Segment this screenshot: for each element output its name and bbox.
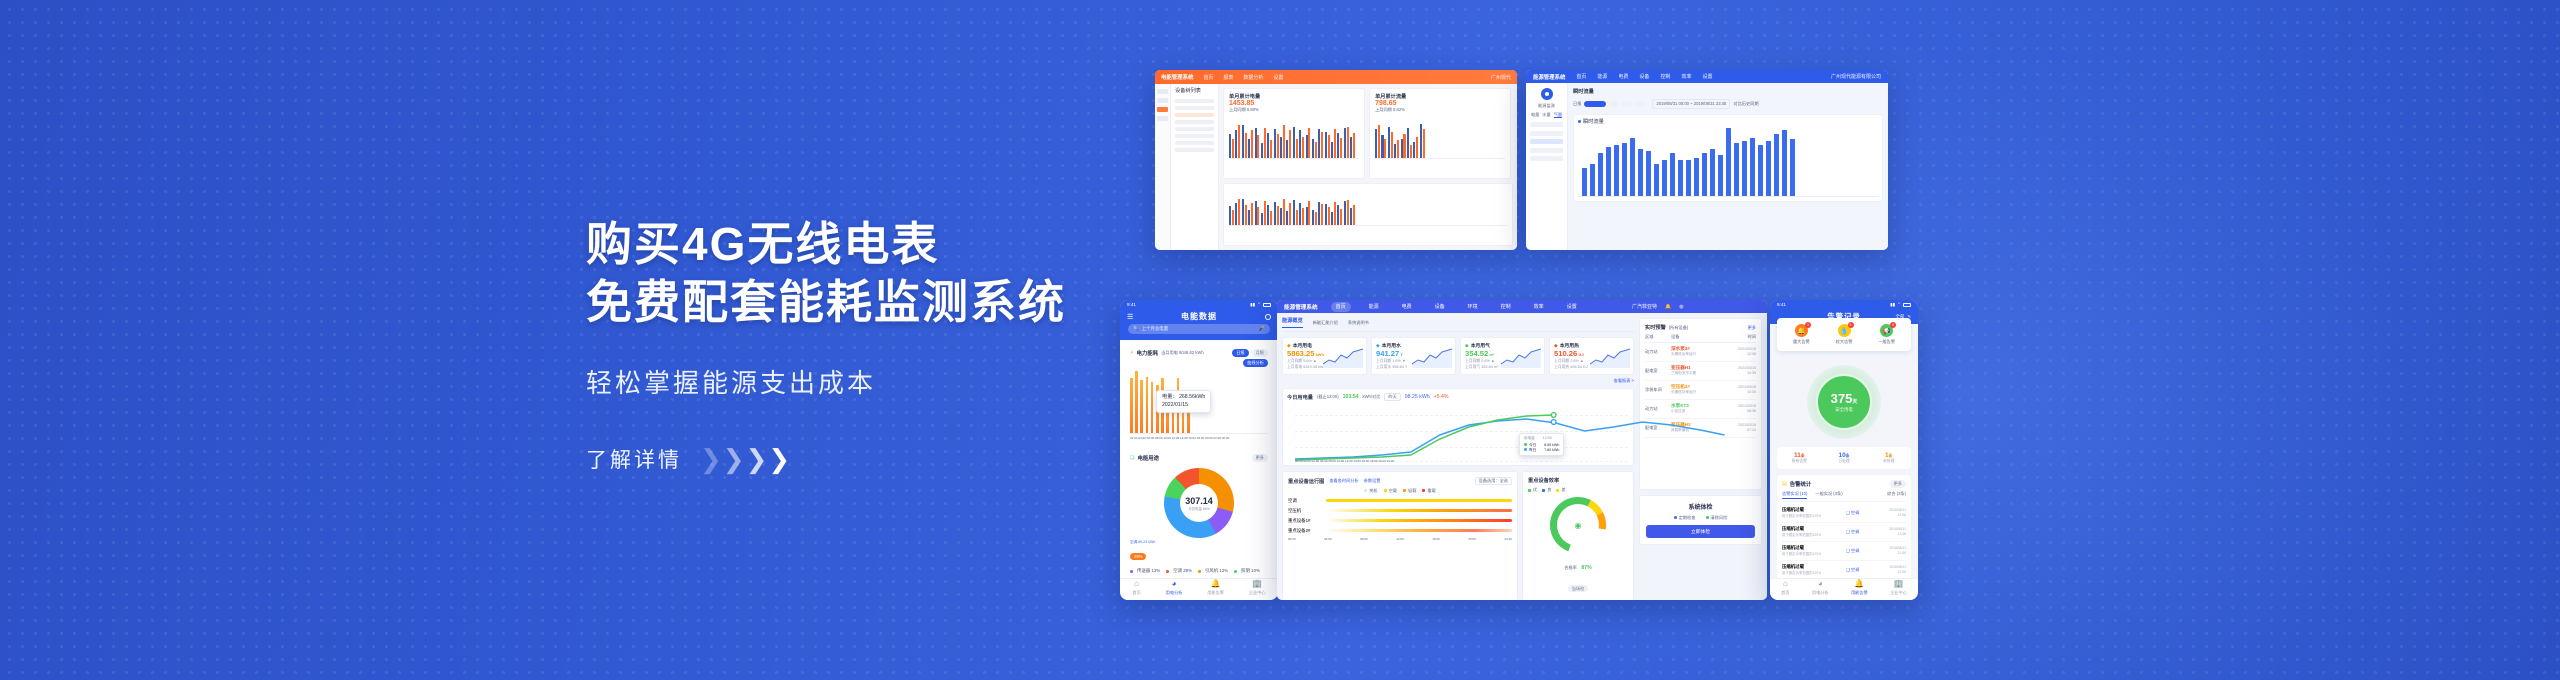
bar bbox=[1774, 134, 1779, 197]
axis-tick: 20:00 bbox=[1468, 537, 1476, 541]
tabbar-item-首页[interactable]: ⌂首页 bbox=[1781, 580, 1789, 596]
bar-pair bbox=[1388, 127, 1393, 158]
p4-alarm-col-area: 区域 bbox=[1645, 334, 1667, 340]
p2-page-title: 瞬时流量 bbox=[1573, 88, 1883, 95]
alarm-desc: 长期低功率运行 bbox=[1671, 390, 1724, 395]
p2-compare-checkbox[interactable]: 对比历史同期 bbox=[1733, 101, 1758, 107]
alarm-list-row[interactable]: 压缩机过载用于额定功率范围的120%❑ 空调2018/08/1112:56 bbox=[1782, 561, 1906, 580]
bar bbox=[1734, 143, 1739, 196]
p1-icon-rail[interactable] bbox=[1155, 84, 1171, 250]
bar-current bbox=[1321, 204, 1323, 225]
p2-nav-item[interactable]: 电费 bbox=[1618, 73, 1628, 80]
tabbar-item-用能告警[interactable]: 🔔用能告警 bbox=[1851, 580, 1868, 596]
p5-list-title: 告警统计 bbox=[1790, 480, 1812, 488]
bar bbox=[1742, 141, 1747, 196]
p2-body: 能源监测 电量 水量 气量 瞬时流量 日报 bbox=[1526, 83, 1888, 250]
axis-tick: 04:00 bbox=[1324, 537, 1332, 541]
p3-more-button[interactable]: 更多 bbox=[1252, 454, 1268, 462]
speaker-icon: 📢8 bbox=[1880, 324, 1893, 337]
screenshot-app-alarm-records[interactable]: 9:41 ▮▮⌃ 告警记录 全部 ✎ 🔔3重大告警💧5较大告警📢8一般告警 37… bbox=[1770, 300, 1918, 600]
p1-nav-item[interactable]: 报表 bbox=[1223, 74, 1233, 81]
p1-tree-title: 设备树列表 bbox=[1175, 88, 1214, 95]
p5-severity-card[interactable]: 🔔3重大告警💧5较大告警📢8一般告警 bbox=[1777, 318, 1911, 351]
severity-badge: 5 bbox=[1848, 322, 1854, 328]
p4-nav-energy[interactable]: 能源 bbox=[1364, 302, 1384, 312]
tree-node[interactable] bbox=[1175, 148, 1214, 152]
p2-menu-item-active[interactable] bbox=[1530, 139, 1563, 144]
p5-ring-number: 375 bbox=[1831, 391, 1853, 406]
kpi-sparkline bbox=[1501, 346, 1541, 368]
p2-nav-item[interactable]: 能源 bbox=[1597, 73, 1607, 80]
p4-today-compare: 98.25 kWh bbox=[1405, 394, 1430, 401]
bar-pair bbox=[1274, 202, 1279, 225]
p4-alarm-more[interactable]: 更多 bbox=[1748, 325, 1756, 331]
stat-value: 1条 bbox=[1866, 452, 1911, 459]
bar-current bbox=[1340, 209, 1342, 225]
rail-item[interactable] bbox=[1157, 89, 1168, 94]
bar-pair bbox=[1242, 125, 1247, 157]
tree-node[interactable] bbox=[1175, 120, 1214, 124]
p4-nav-env[interactable]: 环境 bbox=[1463, 302, 1483, 312]
bar-pair bbox=[1229, 134, 1234, 158]
p1-nav-item[interactable]: 设置 bbox=[1273, 74, 1283, 81]
stat-已处理[interactable]: 10条已处理 bbox=[1822, 447, 1867, 469]
p5-list-tab-active[interactable]: 告警实况 (10) bbox=[1782, 491, 1807, 499]
p2-menu-item[interactable] bbox=[1530, 131, 1563, 136]
gantt-legend-item: 轻载 bbox=[1403, 488, 1416, 494]
bar-previous bbox=[1255, 201, 1257, 225]
bar-previous bbox=[1242, 199, 1244, 225]
p2-side-tab[interactable]: 电量 bbox=[1531, 112, 1539, 119]
p5-list-tab[interactable]: 综合 (2条) bbox=[1887, 491, 1906, 499]
wifi-icon: ⌃ bbox=[1257, 302, 1261, 308]
bar-pair bbox=[1350, 205, 1355, 225]
bar-pair bbox=[1229, 206, 1234, 225]
bar-current bbox=[1308, 201, 1310, 225]
p2-nav-item[interactable]: 首页 bbox=[1576, 73, 1586, 80]
stat-unit: 条 bbox=[1846, 454, 1850, 458]
gantt-row-label: 空压机 bbox=[1288, 508, 1322, 514]
legend-color-dot bbox=[1166, 570, 1169, 573]
bar-current bbox=[1245, 205, 1247, 225]
p2-side-tab[interactable]: 水量 bbox=[1542, 112, 1550, 119]
menu-icon[interactable]: ☰ bbox=[1127, 313, 1133, 321]
p3-tab-monthly[interactable]: 月报 bbox=[1252, 349, 1268, 357]
bar-pair bbox=[1325, 204, 1330, 225]
p2-tab[interactable] bbox=[1609, 101, 1619, 107]
alarm-list-name-cell: 压缩机过载用于额定功率范围的120% bbox=[1782, 507, 1842, 518]
stat-label: 所有告警 bbox=[1777, 459, 1822, 464]
legend-color-swatch bbox=[1384, 489, 1387, 492]
p4-tooltip-s2-value: 7.80 kWh bbox=[1544, 448, 1559, 453]
bar-pair bbox=[1235, 199, 1240, 225]
screenshot-app-power-data[interactable]: 9:41 ▮▮⌃ ☰ 电能数据 🔍 当月用电 5046.62 kWh 上个月总电… bbox=[1120, 300, 1278, 600]
tabbar-label: 企业中心 bbox=[1890, 590, 1907, 596]
bar-current bbox=[1334, 202, 1336, 225]
bar-pair bbox=[1401, 134, 1406, 158]
severity-label: 一般告警 bbox=[1878, 339, 1895, 345]
severity-badge: 8 bbox=[1890, 322, 1896, 328]
tabbar-item-用电分析[interactable]: ◕用电分析 bbox=[1812, 580, 1829, 596]
bolt-icon: ⚡ bbox=[1130, 350, 1134, 356]
screenshot-energy-dashboard[interactable]: 能源管理系统 首页 能源 电费 设备 环境 控制 效率 设置 广汽菲亚特 🔔 ◍… bbox=[1277, 300, 1767, 600]
bar-previous bbox=[1280, 208, 1282, 225]
p4-gantt-select[interactable]: 设备选用：全选 bbox=[1475, 477, 1512, 485]
bar bbox=[1718, 155, 1723, 197]
search-icon: 🔍 bbox=[1133, 326, 1139, 332]
bar-current bbox=[1238, 199, 1240, 225]
alarm-row[interactable]: 涂装车间空压机3#长期低功率运行2021/03/1510:05 bbox=[1645, 381, 1756, 400]
p4-x-axis-labels: 00:00 02:00 04:00 06:00 08:00 10:00 12:0… bbox=[1295, 459, 1394, 463]
p2-tab[interactable]: 日报 bbox=[1573, 101, 1581, 107]
rail-item[interactable] bbox=[1157, 116, 1168, 121]
stat-label: 已处理 bbox=[1822, 459, 1867, 464]
bar-pair bbox=[1242, 199, 1247, 225]
p2-nav-item[interactable]: 控制 bbox=[1660, 73, 1670, 80]
axis-tick: 23:00 bbox=[1504, 537, 1512, 541]
alarm-list-desc: 用于额定功率范围的120% bbox=[1782, 532, 1842, 537]
p4-report-link[interactable]: 查看报表 > bbox=[1614, 378, 1634, 383]
tabbar-item-企业中心[interactable]: 🏢企业中心 bbox=[1890, 580, 1907, 596]
p1-brand: 电能管理系统 bbox=[1161, 73, 1193, 81]
bell-icon[interactable]: 🔔 bbox=[1665, 304, 1671, 310]
bar-pair bbox=[1331, 202, 1336, 225]
bar-previous bbox=[1235, 130, 1237, 157]
tree-node[interactable] bbox=[1175, 127, 1214, 131]
bar-previous bbox=[1274, 129, 1276, 158]
p1-card-bottom bbox=[1223, 183, 1513, 246]
p2-date-range[interactable]: 2019/08/31 00:00 ~ 2019/08/31 23:45 bbox=[1652, 99, 1730, 109]
bar-previous bbox=[1274, 202, 1276, 225]
bar-previous bbox=[1242, 125, 1244, 157]
p2-bar-chart bbox=[1578, 125, 1878, 197]
tree-node[interactable] bbox=[1175, 106, 1214, 110]
gantt-row-label: 重点设备2# bbox=[1288, 528, 1322, 534]
bar-previous bbox=[1229, 134, 1231, 158]
bar-current bbox=[1328, 207, 1330, 225]
p4-health-card: 系统体检 定期检查清除风险 立即体检 bbox=[1639, 495, 1762, 545]
bar-pair bbox=[1325, 132, 1330, 158]
p4-eff-button[interactable]: 当场检 bbox=[1568, 585, 1589, 592]
gantt-row-track bbox=[1326, 519, 1512, 522]
bar bbox=[1646, 151, 1651, 197]
p5-list-more[interactable]: 更多 bbox=[1890, 480, 1906, 488]
p2-side-title: 能源监测 bbox=[1530, 103, 1563, 109]
bar-current bbox=[1283, 199, 1285, 225]
bar bbox=[1638, 149, 1643, 197]
p4-gantt-link1[interactable]: 查看各时间分析 bbox=[1329, 478, 1358, 484]
clipboard-icon: ▤ bbox=[1782, 481, 1787, 487]
bar-previous bbox=[1248, 210, 1250, 225]
alarm-device-cell: 变压器H1三相电流不平衡 bbox=[1671, 365, 1724, 376]
severity-较大告警[interactable]: 💧5较大告警 bbox=[1823, 324, 1866, 345]
p3-tab-daily[interactable]: 日报 bbox=[1232, 349, 1248, 357]
p1-account[interactable]: 广州现代 bbox=[1491, 74, 1511, 81]
kpi-unit: T bbox=[1399, 352, 1403, 357]
gantt-legend-item: 空载 bbox=[1384, 488, 1397, 494]
p4-today-select[interactable]: 昨天 bbox=[1384, 393, 1400, 401]
gantt-row: 空调 bbox=[1288, 498, 1512, 504]
p1-account-label: 广州现代 bbox=[1491, 74, 1511, 81]
bar-previous bbox=[1325, 204, 1327, 225]
p1-card-electricity: 单月累计电量 1453.85 上月同期 5.80% bbox=[1223, 88, 1365, 179]
p4-nav-efficiency[interactable]: 效率 bbox=[1529, 302, 1549, 312]
p2-menu-item[interactable] bbox=[1530, 148, 1563, 153]
bar-pair bbox=[1235, 125, 1240, 157]
p2-tab[interactable] bbox=[1622, 101, 1632, 107]
bar bbox=[1151, 382, 1154, 433]
user-icon[interactable]: ◍ bbox=[1679, 304, 1683, 310]
eff-legend-item: 差 bbox=[1556, 487, 1565, 493]
stat-value: 11条 bbox=[1777, 452, 1822, 459]
bar-pair bbox=[1344, 200, 1349, 225]
bar-previous bbox=[1293, 127, 1295, 158]
p2-menu-item[interactable] bbox=[1530, 156, 1563, 161]
bar bbox=[1598, 153, 1603, 197]
gantt-legend-item: 关机 bbox=[1364, 488, 1377, 494]
severity-重大告警[interactable]: 🔔3重大告警 bbox=[1780, 324, 1823, 345]
p2-tab[interactable] bbox=[1635, 101, 1645, 107]
p3-tabbar[interactable]: ⌂首页◕用电分析🔔用能告警🏢企业中心 bbox=[1120, 578, 1278, 600]
bar-previous bbox=[1318, 202, 1320, 225]
p4-health-button[interactable]: 立即体检 bbox=[1646, 525, 1755, 538]
p1-nav-item[interactable]: 首页 bbox=[1203, 74, 1213, 81]
bar-pair bbox=[1299, 130, 1304, 157]
p2-side-tab-active[interactable]: 气量 bbox=[1554, 112, 1562, 119]
p1-nav-item[interactable]: 数据分析 bbox=[1243, 74, 1263, 81]
rail-item[interactable] bbox=[1157, 98, 1168, 103]
p2-tab-selected[interactable] bbox=[1584, 101, 1606, 107]
p3-subtab-curve[interactable]: 曲线分析 bbox=[1243, 359, 1268, 367]
p2-company-label: 广州现代能源有限公司 bbox=[1831, 73, 1881, 80]
p3-section2-title: 电能用途 bbox=[1137, 454, 1159, 462]
alarm-row[interactable]: 动力站深水泵3#长期低功率运行2021/03/1512:35 bbox=[1645, 343, 1756, 362]
p4-today-chart-card: 今日用电量 (截止12:00) 103.54 kWh/对比 昨天 98.25 k… bbox=[1282, 388, 1634, 466]
legend-color-dot bbox=[1198, 570, 1201, 573]
p4-nav-control[interactable]: 控制 bbox=[1496, 302, 1516, 312]
bar bbox=[1135, 371, 1138, 433]
bar bbox=[1622, 143, 1627, 196]
p5-tabbar[interactable]: ⌂首页◕用电分析🔔用能告警🏢企业中心 bbox=[1770, 578, 1918, 600]
p2-nav-item[interactable]: 设置 bbox=[1702, 73, 1712, 80]
p2-nav-item[interactable]: 设备 bbox=[1639, 73, 1649, 80]
bar-current bbox=[1251, 130, 1253, 157]
p2-brand: 能源管理系统 bbox=[1533, 73, 1565, 81]
p2-menu-item[interactable] bbox=[1530, 122, 1563, 127]
p4-tabs[interactable]: 能源概览 新能汇能介绍 系统说明书 bbox=[1282, 318, 1634, 332]
alarm-list-row[interactable]: 压缩机过载用于额定功率范围的120%❑ 空调2018/08/1112:56 bbox=[1782, 542, 1906, 561]
p4-today-delta: +5.4% bbox=[1434, 394, 1449, 401]
gantt-row: 空压机 bbox=[1288, 508, 1512, 514]
tabbar-item-企业中心[interactable]: 🏢企业中心 bbox=[1249, 580, 1266, 596]
bar bbox=[1654, 164, 1659, 196]
p5-stat-row[interactable]: 11条所有告警10条已处理1条未处理 bbox=[1777, 447, 1911, 469]
p4-nav-fee[interactable]: 电费 bbox=[1397, 302, 1417, 312]
alarm-list-row[interactable]: 压缩机过载用于额定功率范围的120%❑ 空调2018/08/1112:56 bbox=[1782, 523, 1906, 542]
severity-一般告警[interactable]: 📢8一般告警 bbox=[1865, 324, 1908, 345]
bar-previous bbox=[1299, 130, 1301, 157]
bar-pair bbox=[1413, 137, 1418, 158]
p3-search-input[interactable]: 🔍 当月用电 5046.62 kWh 上个月总电量 🎤 bbox=[1128, 324, 1270, 334]
kpi-card-本月用水: ◆本月用水941.27 T上月同期 1.6% ▼上月用水 956.64 T bbox=[1371, 337, 1456, 375]
alarm-list-desc: 用于额定功率范围的120% bbox=[1782, 551, 1842, 556]
p4-tooltip-title: 用电量 bbox=[1524, 436, 1535, 441]
p4-nav-settings[interactable]: 设置 bbox=[1562, 302, 1582, 312]
bar bbox=[1140, 380, 1143, 433]
screenshot-power-management-system[interactable]: 电能管理系统 首页 报表 数据分析 设置 广州现代 设备树列表 bbox=[1155, 70, 1517, 250]
gantt-row: 重点设备1# bbox=[1288, 518, 1512, 524]
bar-current bbox=[1283, 125, 1285, 157]
gantt-legend-item: 重载 bbox=[1422, 488, 1435, 494]
alarm-list-device: ❑ 空调 bbox=[1846, 567, 1872, 573]
tabbar-item-用电分析[interactable]: ◕用电分析 bbox=[1166, 580, 1183, 596]
p2-header: 能源管理系统 首页 能源 电费 设备 控制 效率 设置 广州现代能源有限公司 bbox=[1526, 70, 1888, 83]
alarm-list-device: ❑ 空调 bbox=[1846, 529, 1872, 535]
bar-current bbox=[1245, 133, 1247, 158]
p5-ring-core: 375天 安全用电 bbox=[1816, 374, 1872, 430]
tab-intro[interactable]: 新能汇能介绍 bbox=[1313, 320, 1338, 326]
bar bbox=[1790, 139, 1795, 196]
bar-previous bbox=[1420, 124, 1422, 157]
p4-company[interactable]: 广汽菲亚特 bbox=[1632, 303, 1657, 310]
bar-pair bbox=[1306, 128, 1311, 158]
legend-color-swatch bbox=[1403, 489, 1406, 492]
alarm-desc: 三相电流不平衡 bbox=[1671, 371, 1724, 376]
signal-icon: ▮▮ bbox=[1250, 302, 1255, 308]
bar-previous bbox=[1293, 200, 1295, 225]
alarm-time: 2021/03/1510:39 bbox=[1728, 366, 1756, 376]
bar-pair bbox=[1331, 129, 1336, 158]
kpi-card-本月用热: ◆本月用热510.26 GJ上月同期 2.6% ▲上月用热 496.54 GJ bbox=[1549, 337, 1634, 375]
bar-pair bbox=[1255, 201, 1260, 225]
screenshot-energy-management-flow[interactable]: 能源管理系统 首页 能源 电费 设备 控制 效率 设置 广州现代能源有限公司 能… bbox=[1526, 70, 1888, 250]
p4-eff-title: 重点设备效率 bbox=[1528, 477, 1628, 484]
bar-pair bbox=[1267, 205, 1272, 225]
p4-gantt-link2[interactable]: 参数设置 bbox=[1364, 478, 1381, 484]
p4-eff-gauge: ◉ bbox=[1550, 497, 1606, 553]
rail-item-active[interactable] bbox=[1157, 107, 1168, 112]
tree-node[interactable] bbox=[1175, 134, 1214, 138]
p1-chart-2 bbox=[1375, 113, 1505, 159]
kpi-unit: m³ bbox=[1488, 352, 1494, 357]
p2-company[interactable]: 广州现代能源有限公司 bbox=[1831, 73, 1881, 80]
kpi-sparkline bbox=[1323, 346, 1363, 368]
bar-pair bbox=[1306, 201, 1311, 225]
bar-pair bbox=[1255, 128, 1260, 158]
alarm-row[interactable]: 配电室变压器H1三相电流不平衡2021/03/1510:39 bbox=[1645, 362, 1756, 381]
tab-manual[interactable]: 系统说明书 bbox=[1348, 320, 1369, 326]
p5-ring-label: 安全用电 bbox=[1835, 407, 1853, 413]
alarm-time: 2021/03/1512:35 bbox=[1728, 347, 1756, 357]
bar bbox=[1726, 128, 1731, 196]
p3-callout-pct: 29% bbox=[1130, 553, 1146, 560]
p3-callout-text: 空调 89.23 kWh bbox=[1130, 540, 1155, 544]
p3-header-block: ☰ 电能数据 🔍 当月用电 5046.62 kWh 上个月总电量 🎤 bbox=[1120, 309, 1278, 340]
p5-safety-ring: 375天 安全用电 bbox=[1807, 365, 1881, 439]
axis-tick: 16:00 bbox=[1432, 537, 1440, 541]
p3-tooltip-line1: 电量： 268.56kWh bbox=[1162, 394, 1205, 402]
gantt-row-label: 重点设备1# bbox=[1288, 518, 1322, 524]
eff-legend-item: 良 bbox=[1542, 487, 1551, 493]
tab-overview[interactable]: 能源概览 bbox=[1282, 318, 1303, 328]
p4-tooltip-s1-name: 今日 bbox=[1529, 443, 1536, 447]
p2-chart-card: 瞬时流量 bbox=[1573, 114, 1883, 203]
tabbar-label: 用电分析 bbox=[1166, 590, 1183, 596]
bar-pair bbox=[1274, 129, 1279, 158]
bar-pair bbox=[1337, 205, 1342, 225]
bar-previous bbox=[1229, 206, 1231, 225]
gantt-row-track bbox=[1326, 509, 1512, 512]
bar-previous bbox=[1261, 143, 1263, 158]
bar-previous bbox=[1267, 205, 1269, 225]
p2-toolbar[interactable]: 日报 2019/08/31 00:00 ~ 2019/08/31 23:45 对… bbox=[1573, 99, 1883, 109]
home-icon: ⌂ bbox=[1134, 580, 1139, 588]
p1-device-tree[interactable]: 设备树列表 bbox=[1171, 84, 1219, 250]
p4-eff-rate-value: 87% bbox=[1581, 565, 1591, 571]
axis-tick: 12:00 bbox=[1396, 537, 1404, 541]
chevron-right-icon: ❯ bbox=[746, 446, 768, 472]
tabbar-label: 用能告警 bbox=[1851, 590, 1868, 596]
bar-current bbox=[1289, 203, 1291, 225]
tree-node-selected[interactable] bbox=[1175, 113, 1214, 117]
p4-alarm-col-time: 时间 bbox=[1728, 334, 1756, 340]
bar-current bbox=[1257, 207, 1259, 225]
bar bbox=[1686, 160, 1691, 196]
p3-tooltip-line2: 2022/01/15 bbox=[1162, 402, 1205, 410]
gear-icon[interactable] bbox=[1265, 314, 1271, 320]
bar bbox=[1630, 138, 1635, 197]
stat-未处理[interactable]: 1条未处理 bbox=[1866, 447, 1911, 469]
tree-node[interactable] bbox=[1175, 141, 1214, 145]
stat-所有告警[interactable]: 11条所有告警 bbox=[1777, 447, 1822, 469]
alarm-area: 涂装车间 bbox=[1645, 387, 1667, 393]
p3-status-icons: ▮▮⌃ bbox=[1250, 302, 1271, 308]
alarm-list-row[interactable]: 压缩机过载用于额定功率范围的120%❑ 空调2018/08/1112:56 bbox=[1782, 504, 1906, 523]
tree-node[interactable] bbox=[1175, 99, 1214, 103]
bar-current bbox=[1397, 140, 1399, 157]
p3-search-value: 上个月总电量 bbox=[1142, 326, 1168, 332]
bar-current bbox=[1334, 129, 1336, 158]
tabbar-item-首页[interactable]: ⌂首页 bbox=[1132, 580, 1140, 596]
bar-pair bbox=[1312, 210, 1317, 225]
p3-bar-chart: 电量： 268.56kWh 2022/01/15 bbox=[1130, 372, 1268, 434]
legend-item: 照明 10% bbox=[1234, 568, 1260, 574]
bar-current bbox=[1264, 201, 1266, 225]
p1-card-value: 798.65 bbox=[1375, 100, 1505, 107]
bar-pair bbox=[1381, 135, 1386, 157]
p4-nav-home[interactable]: 首页 bbox=[1331, 302, 1351, 312]
bar-pair bbox=[1318, 202, 1323, 225]
alarm-list-time: 2018/08/1112:56 bbox=[1876, 565, 1906, 574]
bar-previous bbox=[1280, 137, 1282, 158]
p5-list-card: ▤ 告警统计 更多 告警实况 (10) 一般实况 (3条) 综合 (2条) 压缩… bbox=[1777, 475, 1911, 585]
p4-nav-device[interactable]: 设备 bbox=[1430, 302, 1450, 312]
wifi-icon: ⌃ bbox=[1897, 302, 1901, 308]
p4-alarm-scope: (所有设备) bbox=[1669, 325, 1689, 331]
p2-sidebar[interactable]: 能源监测 电量 水量 气量 bbox=[1526, 83, 1568, 250]
p5-list-tab[interactable]: 一般实况 (3条) bbox=[1815, 491, 1842, 499]
bar-current bbox=[1347, 127, 1349, 158]
alarm-list-name-cell: 压缩机过载用于额定功率范围的120% bbox=[1782, 545, 1842, 556]
bar-current bbox=[1328, 135, 1330, 157]
bar-current bbox=[1232, 210, 1234, 225]
tabbar-item-用能告警[interactable]: 🔔用能告警 bbox=[1207, 580, 1224, 596]
bar-previous bbox=[1267, 133, 1269, 158]
p4-efficiency-card: 重点设备效率 优良差 ◉ 合格率 87% bbox=[1522, 471, 1634, 600]
bar-current bbox=[1302, 208, 1304, 225]
mic-icon[interactable]: 🎤 bbox=[1259, 326, 1265, 332]
p2-nav-item[interactable]: 效率 bbox=[1681, 73, 1691, 80]
